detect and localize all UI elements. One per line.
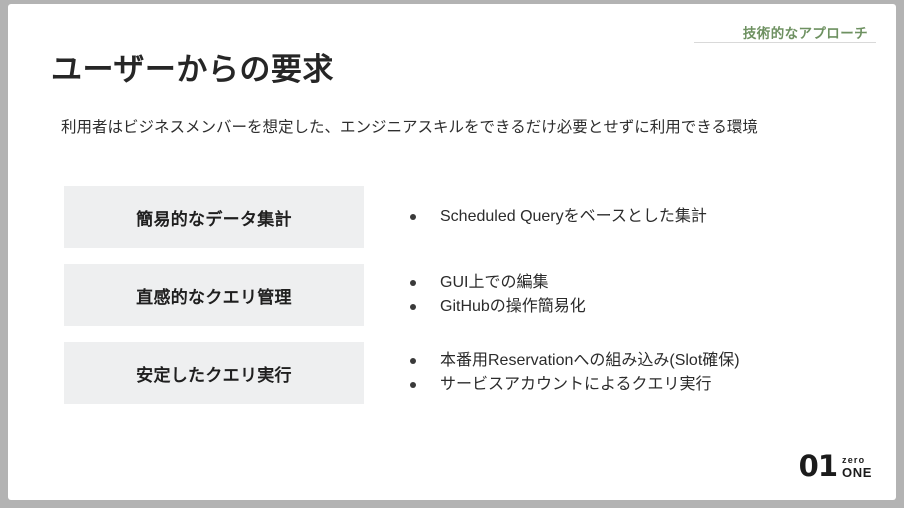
logo-mark-01: 01 [799,452,837,481]
list-item-label: GitHubの操作簡易化 [440,298,586,315]
requirement-row: 直感的なクエリ管理 GUI上での編集 GitHubの操作簡易化 [8,264,896,342]
requirement-bullet-list: Scheduled Queryをベースとした集計 [400,186,872,248]
requirement-chip-label: 安定したクエリ実行 [136,361,292,386]
logo-word-zero: zero [842,456,872,465]
bullet-dot-icon [410,382,416,388]
logo-word-one: ONE [842,466,872,479]
section-eyebrow-label: 技術的なアプローチ [743,22,868,42]
requirement-chip-label: 直感的なクエリ管理 [136,283,292,308]
bullet-dot-icon [410,214,416,220]
requirement-chip: 簡易的なデータ集計 [64,186,364,248]
page-title: ユーザーからの要求 [51,52,334,88]
list-item-label: サービスアカウントによるクエリ実行 [440,376,712,393]
eyebrow-divider [694,42,876,43]
requirement-row: 簡易的なデータ集計 Scheduled Queryをベースとした集計 [8,186,896,264]
list-item: 本番用Reservationへの組み込み(Slot確保) [400,349,872,373]
lead-paragraph: 利用者はビジネスメンバーを想定した、エンジニアスキルをできるだけ必要とせずに利用… [61,115,806,140]
list-item-label: 本番用Reservationへの組み込み(Slot確保) [440,352,740,369]
bullet-dot-icon [410,304,416,310]
list-item-label: Scheduled Queryをベースとした集計 [440,208,707,225]
slide-frame: 技術的なアプローチ ユーザーからの要求 利用者はビジネスメンバーを想定した、エン… [0,0,904,508]
list-item: GUI上での編集 [400,271,872,295]
requirement-row: 安定したクエリ実行 本番用Reservationへの組み込み(Slot確保) サ… [8,342,896,420]
requirement-chip: 直感的なクエリ管理 [64,264,364,326]
requirement-chip: 安定したクエリ実行 [64,342,364,404]
slide-canvas: 技術的なアプローチ ユーザーからの要求 利用者はビジネスメンバーを想定した、エン… [8,4,896,500]
requirement-bullet-list: GUI上での編集 GitHubの操作簡易化 [400,264,872,326]
company-logo: 01 zero ONE [799,452,872,481]
bullet-dot-icon [410,280,416,286]
requirement-chip-label: 簡易的なデータ集計 [136,205,292,230]
list-item: サービスアカウントによるクエリ実行 [400,373,872,397]
list-item: GitHubの操作簡易化 [400,295,872,319]
list-item: Scheduled Queryをベースとした集計 [400,205,872,229]
requirement-bullet-list: 本番用Reservationへの組み込み(Slot確保) サービスアカウントによ… [400,342,872,404]
bullet-dot-icon [410,358,416,364]
list-item-label: GUI上での編集 [440,274,548,291]
requirements-content: 簡易的なデータ集計 Scheduled Queryをベースとした集計 直感的なク… [8,186,896,420]
logo-wordmark: zero ONE [842,455,872,479]
